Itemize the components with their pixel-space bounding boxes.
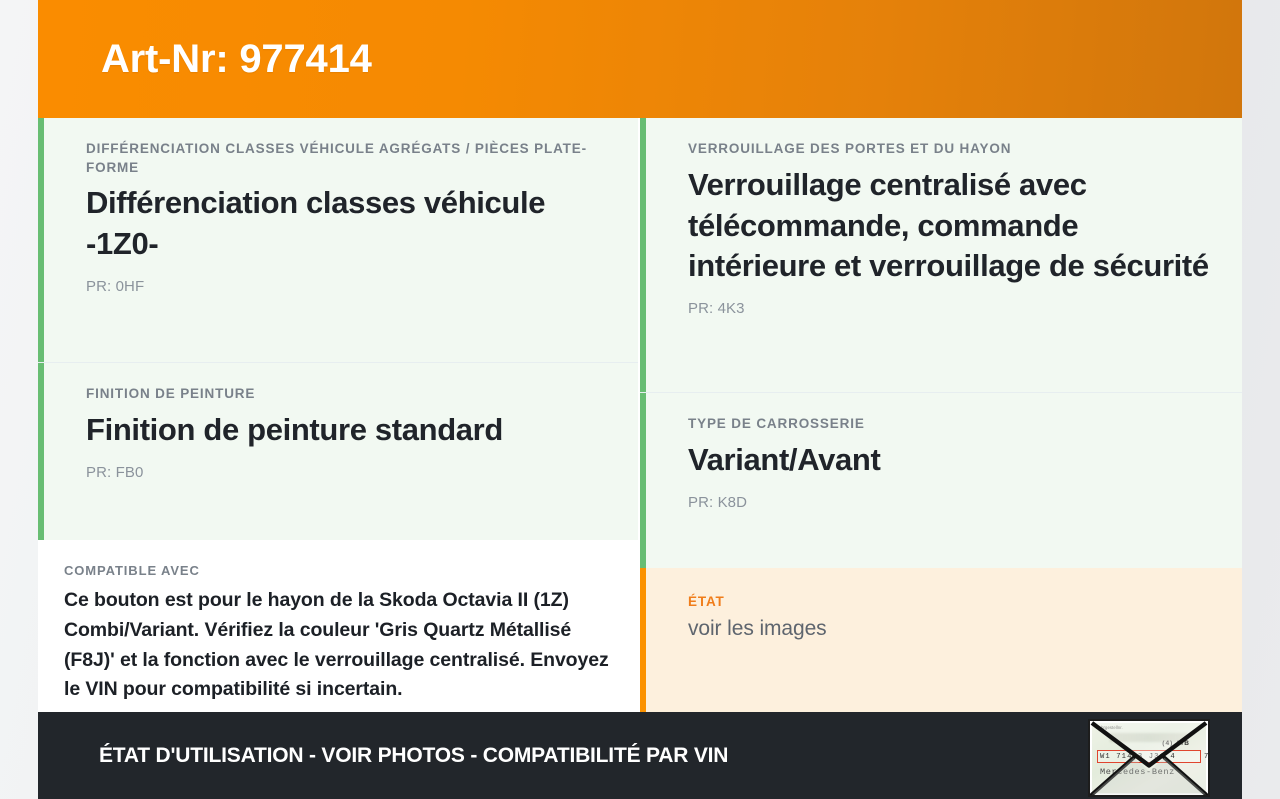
header-banner: Art-Nr: 977414 [38,0,1242,118]
attribute-value: Finition de peinture standard [86,410,610,451]
right-column: VERROUILLAGE DES PORTES ET DU HAYON Verr… [640,118,1242,712]
attribute-label: TYPE DE CARROSSERIE [688,415,1214,434]
vin-document-badge: Fahrgestellnr. (4) A/B W1 71463 J31 4 7 … [1088,719,1210,797]
attribute-label: VERROUILLAGE DES PORTES ET DU HAYON [688,140,1214,159]
attribute-value: Verrouillage centralisé avec télécommand… [688,165,1214,288]
left-column: DIFFÉRENCIATION CLASSES VÉHICULE AGRÉGAT… [38,118,638,712]
attribute-pr-code: PR: 0HF [86,278,610,295]
attributes-body: DIFFÉRENCIATION CLASSES VÉHICULE AGRÉGAT… [38,118,1242,712]
attribute-card: DIFFÉRENCIATION CLASSES VÉHICULE AGRÉGAT… [38,118,638,362]
compatibility-text: Ce bouton est pour le hayon de la Skoda … [64,586,610,705]
state-card: ÉTAT voir les images [640,568,1242,712]
page-title: Art-Nr: 977414 [101,37,372,81]
compatibility-card: COMPATIBLE AVEC Ce bouton est pour le ha… [38,540,638,729]
footer-banner: ÉTAT D'UTILISATION - VOIR PHOTOS - COMPA… [38,712,1242,799]
attribute-card: VERROUILLAGE DES PORTES ET DU HAYON Verr… [640,118,1242,392]
attribute-label: FINITION DE PEINTURE [86,385,610,404]
attribute-card: FINITION DE PEINTURE Finition de peintur… [38,362,638,540]
attribute-label: DIFFÉRENCIATION CLASSES VÉHICULE AGRÉGAT… [86,140,610,177]
compatibility-label: COMPATIBLE AVEC [64,562,610,580]
attribute-pr-code: PR: 4K3 [688,300,1214,317]
product-info-card: Art-Nr: 977414 DIFFÉRENCIATION CLASSES V… [38,0,1242,799]
attribute-value: Variant/Avant [688,440,1214,481]
attribute-pr-code: PR: K8D [688,494,1214,511]
envelope-icon [1090,721,1208,796]
attribute-value: Différenciation classes véhicule -1Z0- [86,183,610,265]
footer-text: ÉTAT D'UTILISATION - VOIR PHOTOS - COMPA… [99,744,728,768]
attribute-pr-code: PR: FB0 [86,464,610,481]
attribute-card: TYPE DE CARROSSERIE Variant/Avant PR: K8… [640,392,1242,568]
state-value: voir les images [688,617,1214,641]
state-label: ÉTAT [688,594,1214,609]
